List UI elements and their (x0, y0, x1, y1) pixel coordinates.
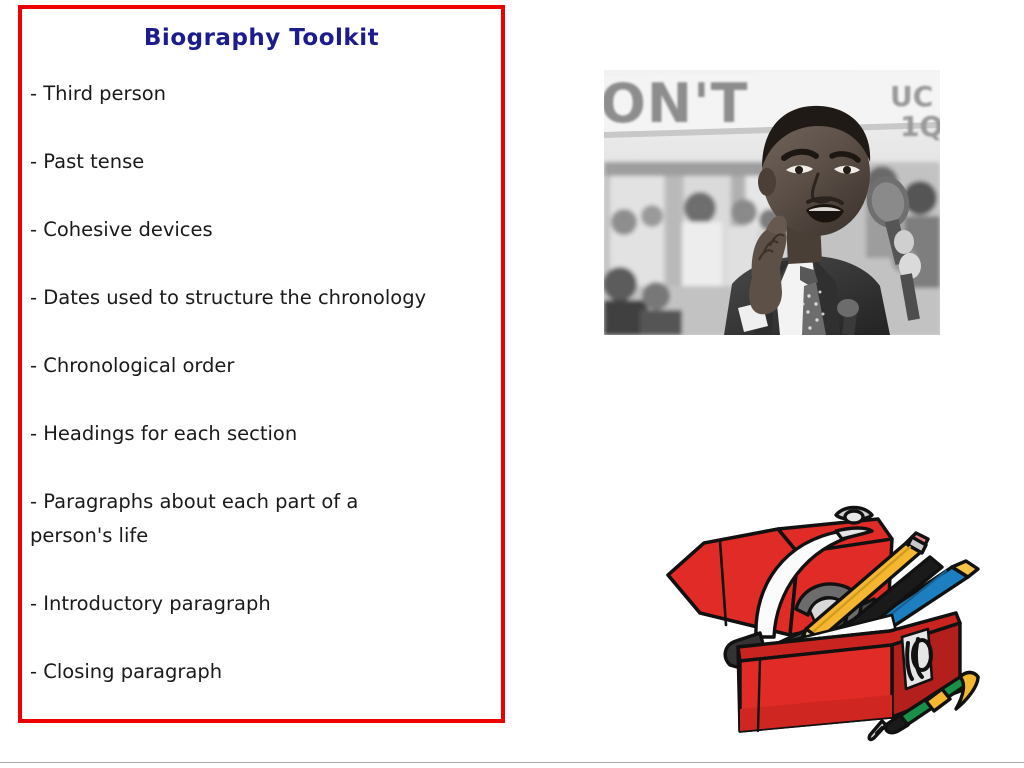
list-item: - Paragraphs about each part of a person… (22, 485, 501, 553)
svg-text:UC: UC (890, 80, 933, 113)
open-red-toolbox-with-tools-clipart (660, 495, 990, 745)
list-item: - Dates used to structure the chronology (22, 281, 501, 315)
toolkit-list: - Third person - Past tense - Cohesive d… (22, 77, 501, 689)
list-item: - Cohesive devices (22, 213, 501, 247)
bottom-divider (0, 762, 1024, 763)
list-item: - Headings for each section (22, 417, 501, 451)
list-item: - Chronological order (22, 349, 501, 383)
svg-text:ON'T: ON'T (604, 72, 748, 135)
svg-text:1Q: 1Q (900, 110, 940, 143)
slide-canvas: Biography Toolkit - Third person - Past … (0, 0, 1024, 768)
list-item: - Introductory paragraph (22, 587, 501, 621)
page-title: Biography Toolkit (22, 26, 501, 51)
martin-luther-king-jr-speaking-photo: ON'T UC 1Q (604, 70, 940, 335)
list-item: - Closing paragraph (22, 655, 501, 689)
biography-toolkit-box: Biography Toolkit - Third person - Past … (18, 5, 505, 723)
list-item: - Past tense (22, 145, 501, 179)
list-item: - Third person (22, 77, 501, 111)
